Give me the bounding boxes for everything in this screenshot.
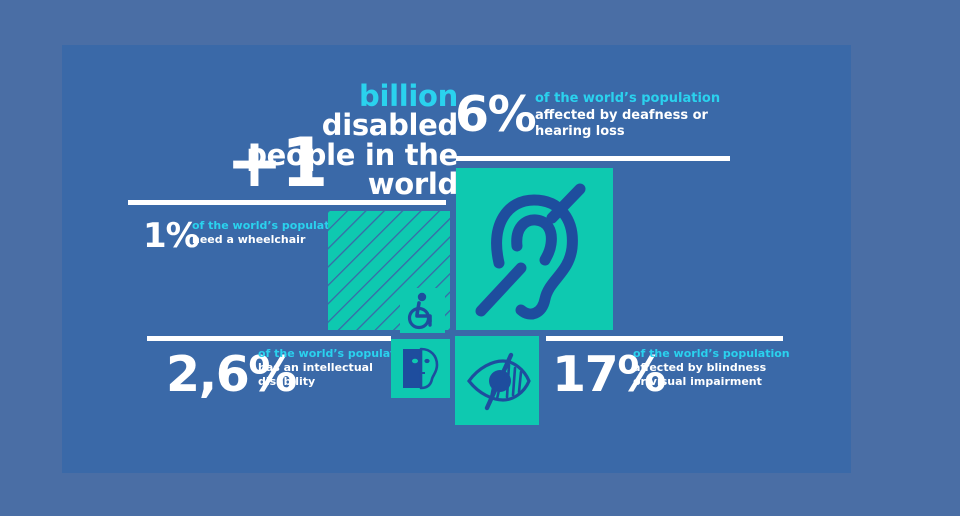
tile-intellectual: [391, 339, 450, 398]
stat-desc-line3-blindness: or visual impairment: [633, 375, 790, 389]
stat-desc-line2-wheelchair: need a wheelchair: [192, 233, 349, 247]
tile-deaf-ear: [456, 168, 613, 330]
stat-desc-line1-blindness: of the world’s population: [633, 347, 790, 361]
divider-bottom-right: [546, 336, 783, 341]
low-vision-eye-icon: [455, 336, 539, 425]
deaf-ear-icon: [456, 168, 613, 330]
infographic-canvas: billion disabled people in the world +1 …: [0, 0, 960, 516]
tile-blindness: [455, 336, 539, 425]
stat-desc-line1-wheelchair: of the world’s population: [192, 219, 349, 233]
face-profile-icon: [391, 339, 450, 398]
divider-top-right: [456, 156, 730, 161]
tile-wheelchair: [400, 288, 445, 333]
stat-desc-line2-deafness: affected by deafness or: [535, 108, 720, 125]
stat-description-wheelchair: of the world’s population need a wheelch…: [192, 219, 349, 247]
stat-desc-line1-deafness: of the world’s population: [535, 91, 720, 108]
stat-desc-line3-deafness: hearing loss: [535, 124, 720, 141]
wheelchair-icon: [400, 288, 445, 333]
stat-description-blindness: of the world’s population affected by bl…: [633, 347, 790, 389]
headline-plus-one-number: +1: [226, 130, 326, 198]
divider-bottom-left: [147, 336, 391, 341]
divider-left-upper: [128, 200, 446, 205]
stat-value-wheelchair: 1%: [143, 219, 199, 253]
stat-value-deafness: 6%: [455, 90, 535, 139]
stat-description-deafness: of the world’s population affected by de…: [535, 91, 720, 141]
headline-line-billion: billion: [228, 82, 458, 111]
stat-desc-line2-blindness: affected by blindness: [633, 361, 790, 375]
